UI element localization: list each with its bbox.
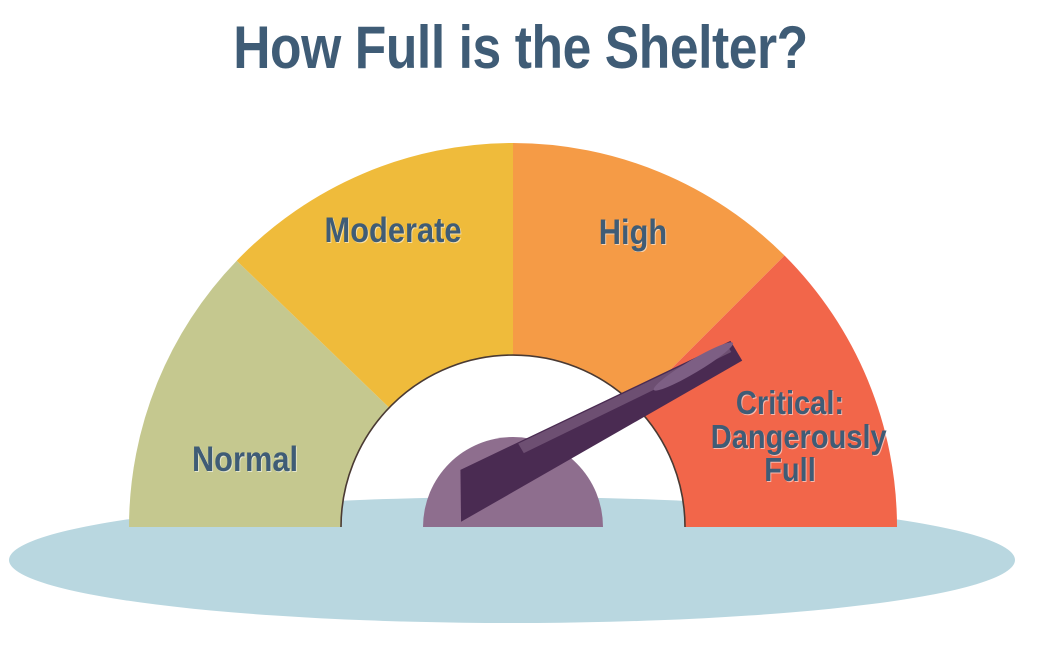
gauge-chart [0, 0, 1041, 658]
gauge-infographic: How Full is the Shelter? [0, 0, 1041, 658]
